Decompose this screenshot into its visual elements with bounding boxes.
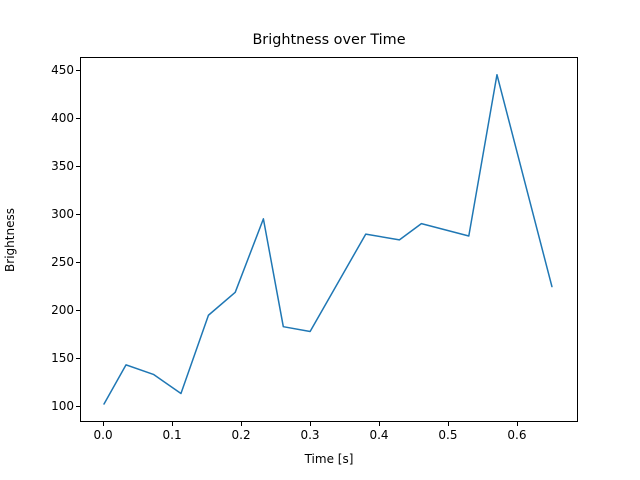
x-tick-mark xyxy=(172,422,173,426)
x-tick-mark xyxy=(517,422,518,426)
x-tick-mark xyxy=(241,422,242,426)
y-tick-label: 200 xyxy=(14,303,74,317)
x-axis-label: Time [s] xyxy=(80,452,578,466)
x-tick-label: 0.4 xyxy=(349,428,409,442)
y-tick-label: 450 xyxy=(14,63,74,77)
x-tick-label: 0.6 xyxy=(487,428,547,442)
x-tick-label: 0.5 xyxy=(418,428,478,442)
line-series-brightness xyxy=(104,75,552,404)
figure-canvas: Brightness over Time Brightness Time [s]… xyxy=(0,0,640,480)
x-tick-label: 0.1 xyxy=(142,428,202,442)
x-tick-mark xyxy=(310,422,311,426)
y-tick-label: 400 xyxy=(14,111,74,125)
line-series-svg xyxy=(81,58,577,421)
y-tick-label: 250 xyxy=(14,255,74,269)
x-tick-label: 0.0 xyxy=(73,428,133,442)
x-tick-label: 0.2 xyxy=(211,428,271,442)
plot-area xyxy=(80,57,578,422)
x-tick-label: 0.3 xyxy=(280,428,340,442)
x-tick-mark xyxy=(448,422,449,426)
y-tick-label: 100 xyxy=(14,399,74,413)
y-tick-label: 350 xyxy=(14,159,74,173)
x-tick-mark xyxy=(379,422,380,426)
x-tick-mark xyxy=(103,422,104,426)
y-tick-label: 150 xyxy=(14,351,74,365)
chart-title: Brightness over Time xyxy=(80,31,578,49)
y-tick-label: 300 xyxy=(14,207,74,221)
